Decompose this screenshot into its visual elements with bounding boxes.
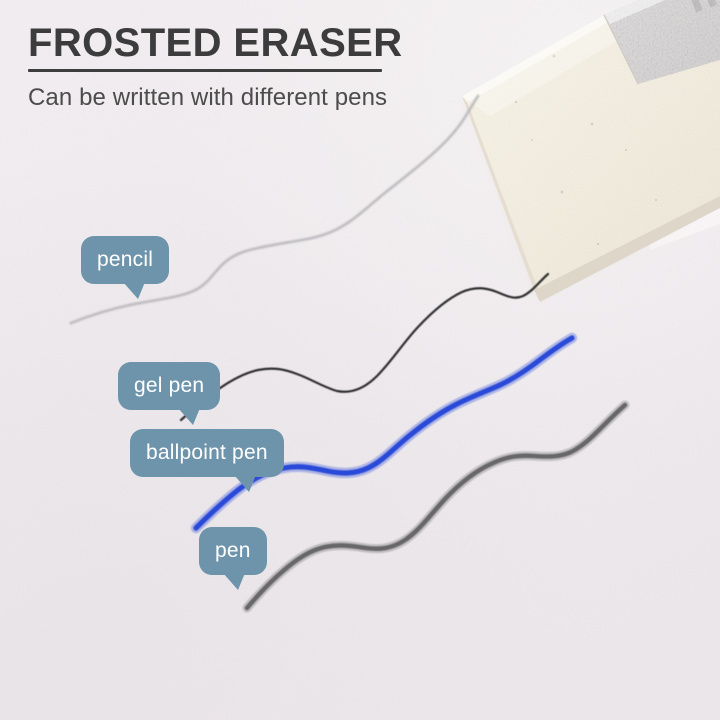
callout-bubble-pencil[interactable]: pencil xyxy=(81,236,169,284)
callout-label-ballpoint-pen: ballpoint pen xyxy=(146,441,268,464)
callout-label-pencil: pencil xyxy=(97,248,153,271)
callout-bubble-pen[interactable]: pen xyxy=(199,527,267,575)
stroke-gel-pen xyxy=(181,274,548,420)
pen-stroke-samples xyxy=(0,0,720,720)
callout-label-gel-pen: gel pen xyxy=(134,374,204,397)
stroke-pen xyxy=(247,405,625,608)
callout-bubble-ballpoint-pen[interactable]: ballpoint pen xyxy=(130,429,284,477)
callout-label-pen: pen xyxy=(215,539,251,562)
callout-bubble-gel-pen[interactable]: gel pen xyxy=(118,362,220,410)
product-banner: FROSTED ERASER Can be written with diffe… xyxy=(0,0,720,720)
